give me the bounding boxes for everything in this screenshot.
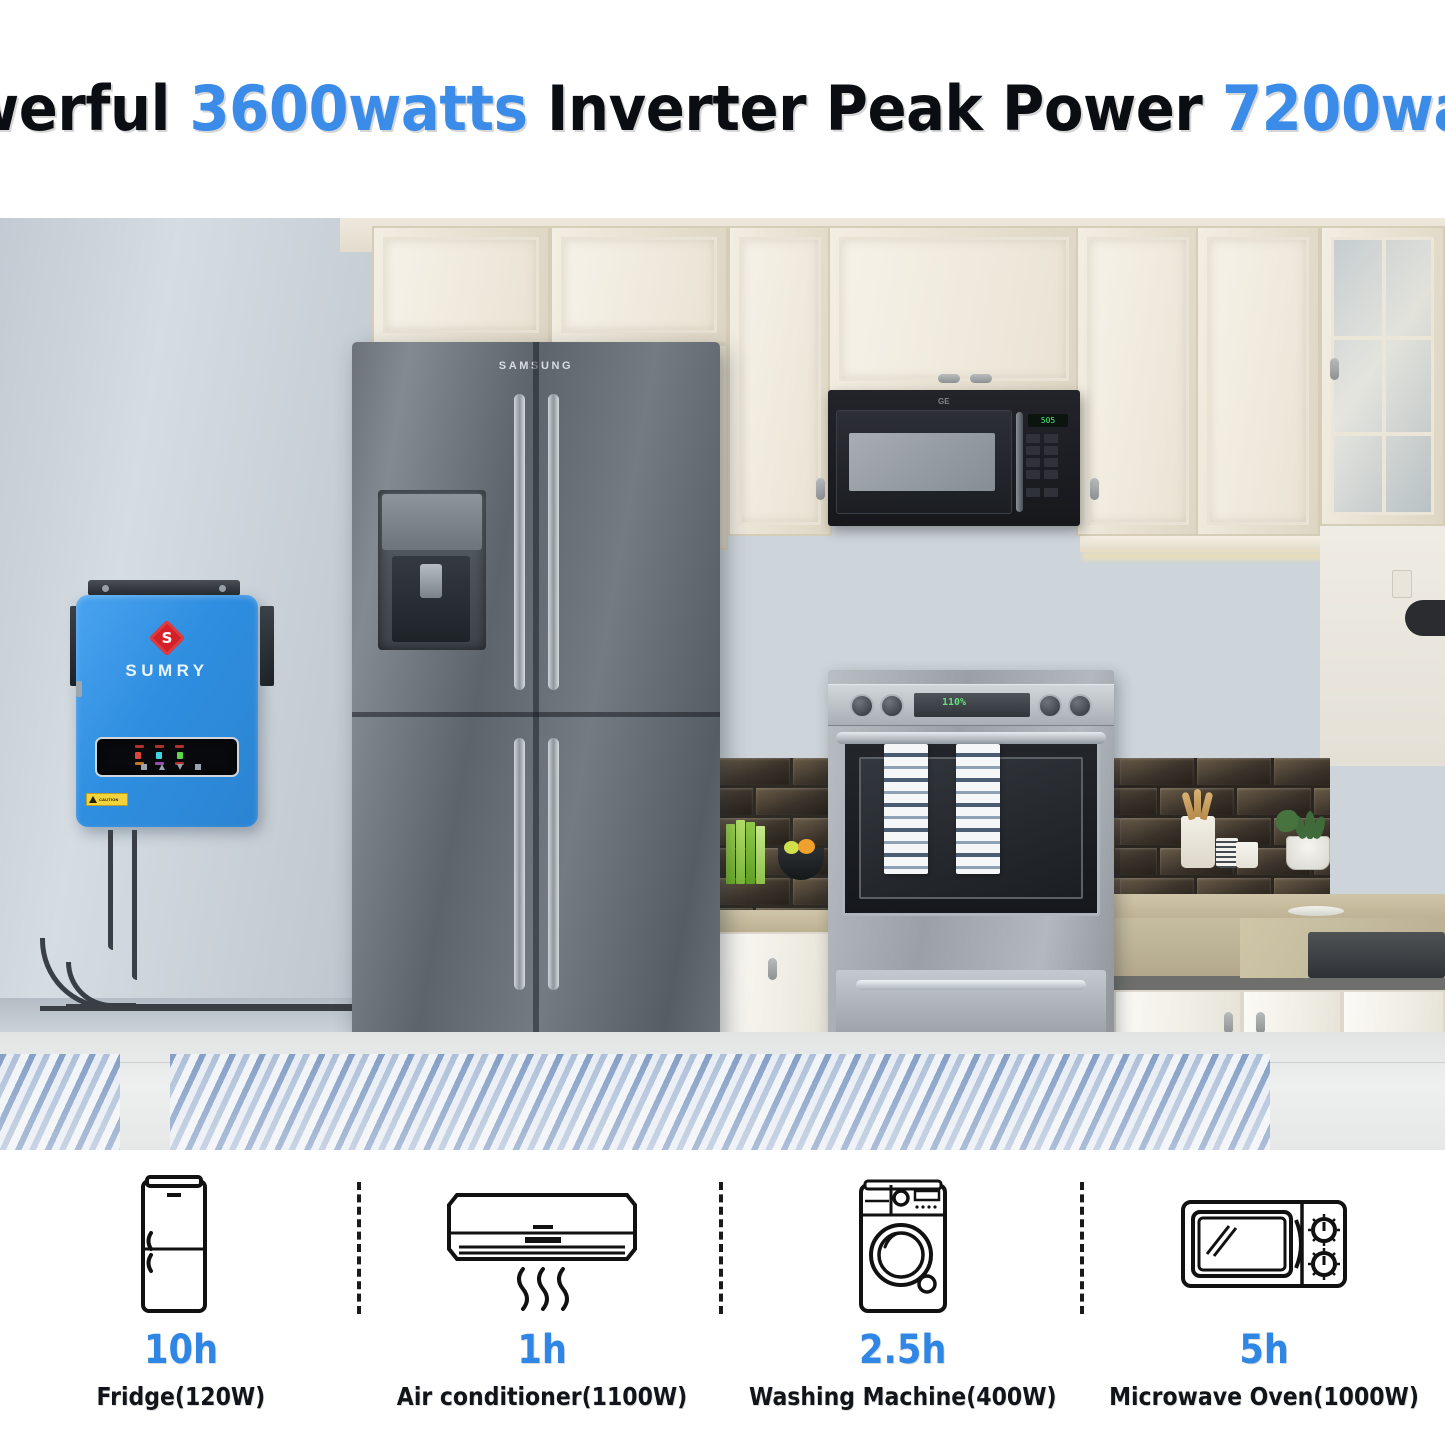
runtime-comparison-strip: 10h Fridge(120W) 1h Air cond <box>0 1150 1445 1445</box>
microwave-key[interactable] <box>1044 488 1058 497</box>
enter-button[interactable] <box>195 764 201 770</box>
runtime-hours: 2.5h <box>859 1330 946 1370</box>
cabinet-knob[interactable] <box>1090 478 1099 500</box>
outlet[interactable] <box>1392 570 1412 598</box>
appliance-cell-fridge: 10h Fridge(120W) <box>0 1150 361 1445</box>
electric-range[interactable]: 110% <box>828 670 1114 1050</box>
washing-machine-icon <box>843 1171 963 1321</box>
dispenser-spout <box>420 564 442 598</box>
logo-letter: S <box>154 625 180 651</box>
cabinet-knob[interactable] <box>970 374 992 383</box>
glass-upper-cabinet <box>1320 226 1445 526</box>
microwave-key[interactable] <box>1026 446 1040 455</box>
cookbook <box>746 822 755 884</box>
backsplash-tile <box>1274 758 1330 785</box>
countertop <box>716 910 830 932</box>
cabinet-knob[interactable] <box>768 958 777 980</box>
plate <box>1288 906 1344 916</box>
menu-button[interactable] <box>141 764 147 770</box>
rug-fade <box>0 1054 120 1150</box>
counter-edge <box>1114 976 1445 990</box>
cabinet-panel <box>561 237 717 333</box>
page-title: Powerful 3600watts Inverter Peak Power 7… <box>0 78 1445 140</box>
wooden-spoon <box>1194 789 1201 817</box>
inverter-body: S SUMRY <box>76 595 258 827</box>
appliance-cell-air-conditioner: 1h Air conditioner(1100W) <box>361 1150 722 1445</box>
microwave-key[interactable] <box>1026 470 1040 479</box>
upper-cabinet <box>550 226 728 344</box>
water-ice-dispenser[interactable] <box>378 490 486 650</box>
sumry-logo-icon: S <box>149 620 186 657</box>
freezer-handle[interactable] <box>514 738 525 990</box>
appliance-cell-washing-machine: 2.5h Washing Machine(400W) <box>723 1150 1084 1445</box>
heatsink-right <box>260 606 274 686</box>
microwave-control-panel[interactable]: 505 <box>1022 408 1074 518</box>
floor-rug <box>170 1054 1270 1150</box>
microwave-oven-icon <box>1169 1176 1359 1316</box>
cabinet-panel <box>1207 237 1309 525</box>
lcd-label <box>175 745 184 748</box>
fridge-door-gap <box>533 342 539 1054</box>
appliance-name: Washing Machine(400W) <box>749 1382 1057 1411</box>
cabinet-panel <box>739 237 821 525</box>
air-conditioner-icon <box>427 1171 657 1321</box>
refrigerator[interactable]: SAMSUNG <box>352 342 720 1054</box>
lcd-label <box>135 745 144 748</box>
backsplash-tile <box>1120 788 1157 815</box>
countertop <box>1114 894 1445 920</box>
cabinet-panel <box>839 237 1069 381</box>
cabinet-panel <box>1087 237 1189 525</box>
range-display: 110% <box>914 693 1030 717</box>
lcd-segment <box>156 752 162 759</box>
lcd-segment <box>177 752 183 759</box>
kitchen-towel <box>884 744 928 874</box>
upper-cabinet <box>828 226 1080 392</box>
caution-sticker: CAUTION <box>86 793 128 806</box>
fruit <box>798 839 815 854</box>
backsplash-tile <box>716 788 753 815</box>
cooktop-or-sink <box>1308 932 1445 978</box>
cabinet-knob[interactable] <box>1256 1012 1265 1034</box>
runtime-hours: 10h <box>144 1330 218 1370</box>
inverter-cable <box>132 830 137 980</box>
fridge-icon-wrap <box>131 1166 231 1326</box>
bracket-screw <box>102 585 109 592</box>
microwave-key[interactable] <box>1026 458 1040 467</box>
microwave-oven-icon-wrap <box>1169 1166 1359 1326</box>
backsplash-tile <box>1120 848 1157 875</box>
rug-fade <box>170 1054 1270 1150</box>
headline-part-3: Peak Power <box>826 72 1222 145</box>
kitchen-towel <box>956 744 1000 874</box>
microwave-key[interactable] <box>1044 458 1058 467</box>
microwave-window <box>849 433 995 491</box>
side-vent <box>76 681 82 697</box>
dispenser-control-panel[interactable] <box>382 494 482 550</box>
plant-leaf <box>1276 810 1298 832</box>
air-conditioner-icon-wrap <box>427 1166 657 1326</box>
cookbooks <box>726 818 770 884</box>
backsplash-tile <box>756 788 830 815</box>
upper-cabinet <box>728 226 832 536</box>
backsplash-tile <box>1197 758 1271 785</box>
cabinet-glass <box>1331 237 1434 515</box>
appliance-name: Microwave Oven(1000W) <box>1109 1382 1419 1411</box>
inverter-lcd-display[interactable] <box>95 737 239 777</box>
wall-fixture <box>1405 600 1445 636</box>
runtime-hours: 1h <box>517 1330 567 1370</box>
appliance-cell-microwave-oven: 5h Microwave Oven(1000W) <box>1084 1150 1445 1445</box>
fridge-handle[interactable] <box>514 394 525 690</box>
mug <box>1236 842 1258 868</box>
microwave-key[interactable] <box>1044 446 1058 455</box>
sumry-inverter[interactable]: S SUMRY <box>62 592 282 834</box>
freezer-handle[interactable] <box>548 738 559 990</box>
glass-mullion <box>1382 240 1386 512</box>
cabinet-panel <box>383 237 539 333</box>
burner-knob[interactable] <box>1038 694 1062 718</box>
cabinet-knob[interactable] <box>1330 358 1339 380</box>
right-wall <box>1320 526 1445 766</box>
utensil-crock <box>1181 816 1215 868</box>
backsplash-tile <box>1314 788 1330 815</box>
backsplash-tile <box>716 758 790 785</box>
washing-machine-icon-wrap <box>843 1166 963 1326</box>
range-control-panel[interactable]: 110% <box>828 684 1114 726</box>
fruit <box>784 841 799 854</box>
upper-cabinet <box>1196 226 1320 536</box>
lcd-label <box>155 745 164 748</box>
product-banner: Powerful 3600watts Inverter Peak Power 7… <box>0 0 1445 1445</box>
headline-banner: Powerful 3600watts Inverter Peak Power 7… <box>0 0 1445 218</box>
microwave-key[interactable] <box>1026 434 1040 443</box>
backsplash-tile <box>1120 758 1194 785</box>
burner-knob[interactable] <box>1068 694 1092 718</box>
upper-cabinet <box>1076 226 1200 536</box>
cabinet-knob[interactable] <box>816 478 825 500</box>
fridge-icon <box>131 1171 231 1321</box>
drawer-handle[interactable] <box>856 980 1086 990</box>
microwave-brand-label: GE <box>938 397 950 406</box>
over-range-microwave[interactable]: GE 505 <box>828 390 1080 526</box>
mounting-bracket <box>88 580 240 596</box>
dispenser-cavity <box>392 556 470 642</box>
headline-part-1: Powerful <box>0 72 190 145</box>
microwave-door[interactable] <box>836 410 1012 514</box>
cable-run <box>66 1004 352 1009</box>
inverter-cable <box>108 830 113 950</box>
headline-watts-continuous: 3600watts <box>190 72 528 145</box>
headline-watts-peak: 7200watts <box>1222 72 1445 145</box>
cookbook <box>736 820 745 884</box>
down-button[interactable] <box>177 764 183 770</box>
cabinet-knob[interactable] <box>1224 1012 1233 1034</box>
microwave-key[interactable] <box>1026 488 1040 497</box>
oven-handle[interactable] <box>836 732 1106 744</box>
inverter-brand-label: SUMRY <box>76 661 258 681</box>
lcd-label <box>155 762 164 765</box>
caution-text: CAUTION <box>99 797 119 802</box>
kitchen-scene-photo: S SUMRY <box>0 218 1445 1150</box>
cookbook <box>756 826 765 884</box>
backsplash-tile <box>1237 788 1311 815</box>
burner-knob[interactable] <box>880 694 904 718</box>
appliance-name: Fridge(120W) <box>96 1382 265 1411</box>
fridge-compartment-split <box>352 712 720 717</box>
lcd-segment <box>135 752 141 759</box>
range-display-value: 110% <box>942 697 966 708</box>
cabinet-knob[interactable] <box>938 374 960 383</box>
upper-cabinet <box>372 226 550 344</box>
mug <box>1216 838 1238 868</box>
microwave-key[interactable] <box>1044 434 1058 443</box>
warning-triangle-icon <box>89 796 97 803</box>
bracket-screw <box>219 585 226 592</box>
runtime-hours: 5h <box>1240 1330 1290 1370</box>
appliance-name: Air conditioner(1100W) <box>397 1382 687 1411</box>
burner-knob[interactable] <box>850 694 874 718</box>
fridge-handle[interactable] <box>548 394 559 690</box>
microwave-display: 505 <box>1028 414 1068 427</box>
cookbook <box>726 824 735 884</box>
headline-part-2: Inverter <box>527 72 825 145</box>
potted-plant <box>1286 836 1330 870</box>
warming-drawer[interactable] <box>836 970 1106 1036</box>
floor-rug <box>0 1054 120 1150</box>
microwave-key[interactable] <box>1044 470 1058 479</box>
